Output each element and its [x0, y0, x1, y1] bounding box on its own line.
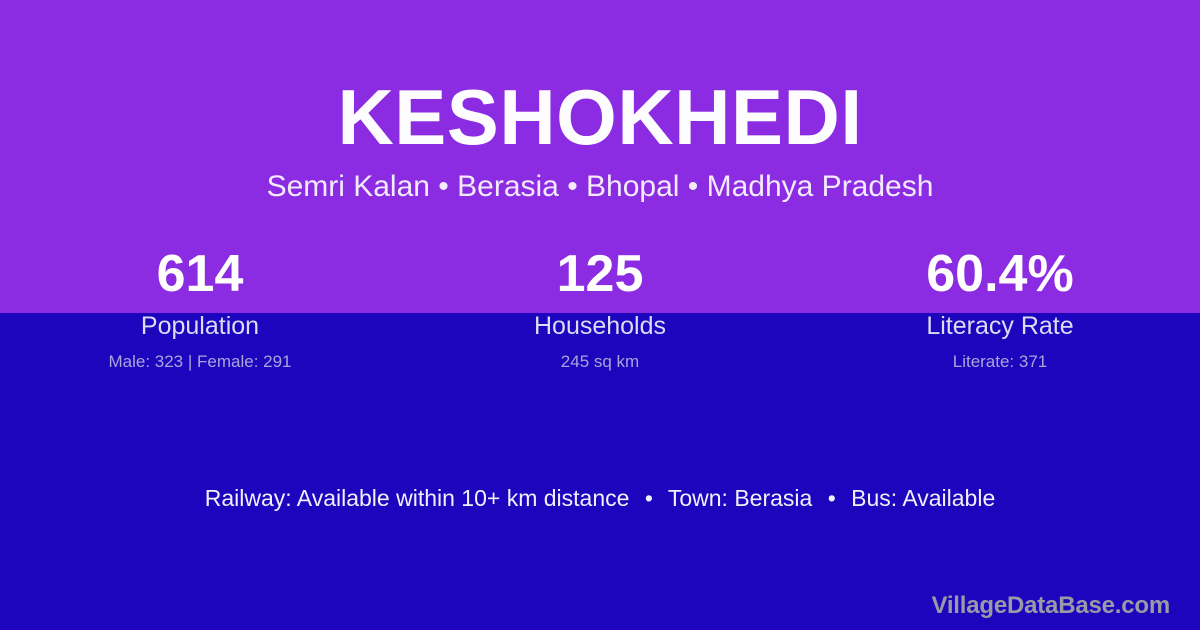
stat-literacy-value: 60.4% [800, 248, 1200, 304]
stat-population-value: 614 [0, 248, 400, 304]
site-watermark: VillageDataBase.com [931, 594, 1170, 618]
stat-households-label: Households [400, 314, 800, 339]
breadcrumb: Semri Kalan • Berasia • Bhopal • Madhya … [0, 156, 1200, 202]
stat-population-label: Population [0, 314, 400, 339]
card-header: KESHOKHEDI Semri Kalan • Berasia • Bhopa… [0, 0, 1200, 202]
amenity-town: Town: Berasia [668, 485, 812, 511]
stat-population-breakdown: Male: 323 | Female: 291 [0, 353, 400, 370]
amenities-line: Railway: Available within 10+ km distanc… [0, 487, 1200, 510]
stat-population: 614 Population Male: 323 | Female: 291 [0, 248, 400, 370]
amenity-separator-icon: • [636, 485, 662, 511]
stat-literacy-label: Literacy Rate [800, 314, 1200, 339]
page-title: KESHOKHEDI [0, 0, 1200, 156]
stat-literacy-count: Literate: 371 [800, 353, 1200, 370]
stat-literacy: 60.4% Literacy Rate Literate: 371 [800, 248, 1200, 370]
amenity-separator-icon: • [819, 485, 845, 511]
stats-row: 614 Population Male: 323 | Female: 291 1… [0, 248, 1200, 370]
stat-households-area: 245 sq km [400, 353, 800, 370]
village-info-card: KESHOKHEDI Semri Kalan • Berasia • Bhopa… [0, 0, 1200, 630]
stat-households: 125 Households 245 sq km [400, 248, 800, 370]
amenity-bus: Bus: Available [851, 485, 995, 511]
amenity-railway: Railway: Available within 10+ km distanc… [205, 485, 630, 511]
stat-households-value: 125 [400, 248, 800, 304]
